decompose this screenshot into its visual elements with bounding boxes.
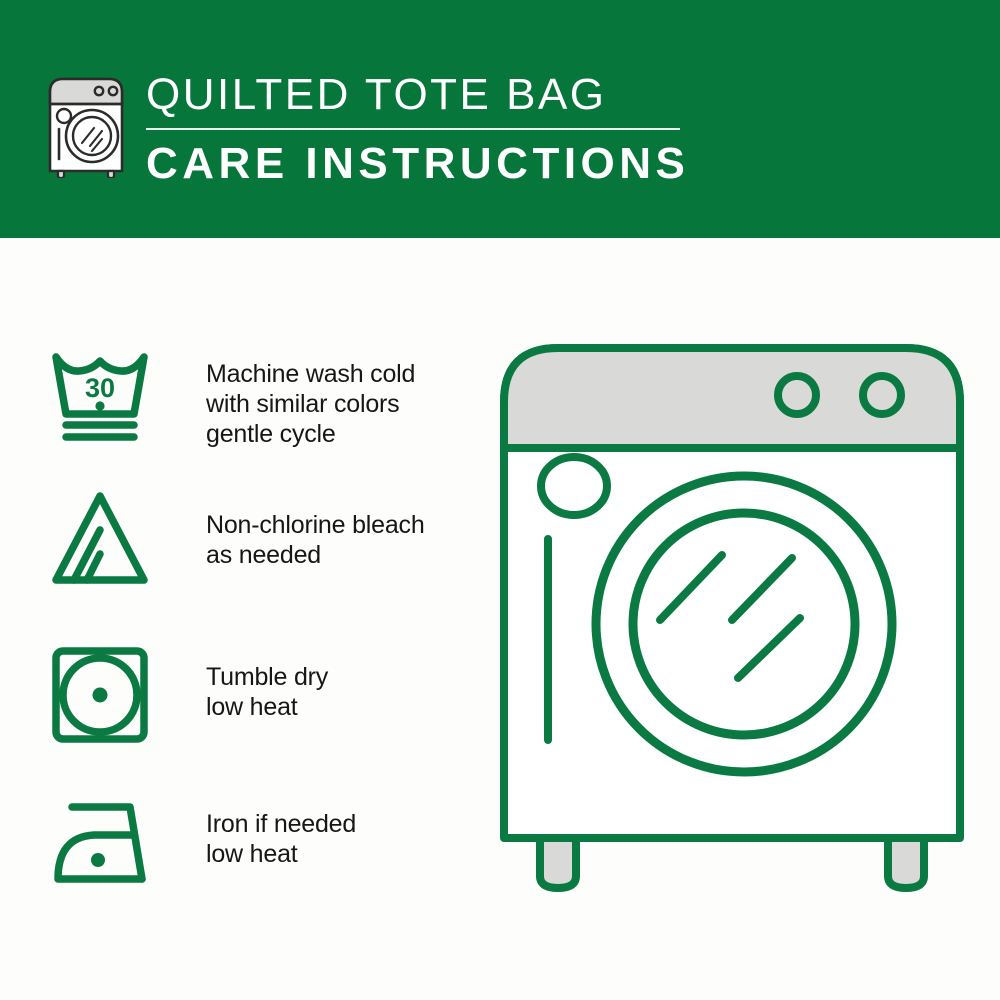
care-item-label: Iron if needed low heat: [206, 809, 356, 869]
tumble-dry-low-heat-icon: [48, 643, 158, 748]
header-text-block: QUILTED TOTE BAG CARE INSTRUCTIONS: [146, 70, 846, 189]
non-chlorine-bleach-triangle-icon: [48, 488, 158, 593]
header-banner: QUILTED TOTE BAG CARE INSTRUCTIONS: [0, 0, 1000, 238]
page-title: QUILTED TOTE BAG: [146, 70, 846, 120]
front-load-washing-machine-illustration: [492, 330, 972, 930]
page-subtitle: CARE INSTRUCTIONS: [146, 139, 846, 189]
title-divider: [146, 128, 680, 130]
care-item-iron: Iron if needed low heat: [48, 793, 356, 898]
care-item-machine-wash: 30 Machine wash cold with similar colors…: [48, 346, 415, 451]
care-item-label: Tumble dry low heat: [206, 662, 328, 722]
leg-right: [888, 838, 924, 888]
care-instruction-list: 30 Machine wash cold with similar colors…: [0, 238, 470, 1000]
care-item-bleach: Non-chlorine bleach as needed: [48, 488, 425, 593]
care-item-tumble-dry: Tumble dry low heat: [48, 643, 328, 748]
leg-left: [540, 838, 576, 888]
wash-basin-30-gentle-icon: 30: [48, 346, 158, 451]
wash-temperature-value: 30: [85, 373, 115, 403]
washing-machine-icon: [44, 72, 128, 178]
iron-low-heat-icon: [48, 793, 158, 898]
care-item-label: Machine wash cold with similar colors ge…: [206, 359, 415, 449]
care-instructions-infographic: QUILTED TOTE BAG CARE INSTRUCTIONS 30: [0, 0, 1000, 1000]
care-item-label: Non-chlorine bleach as needed: [206, 510, 425, 570]
